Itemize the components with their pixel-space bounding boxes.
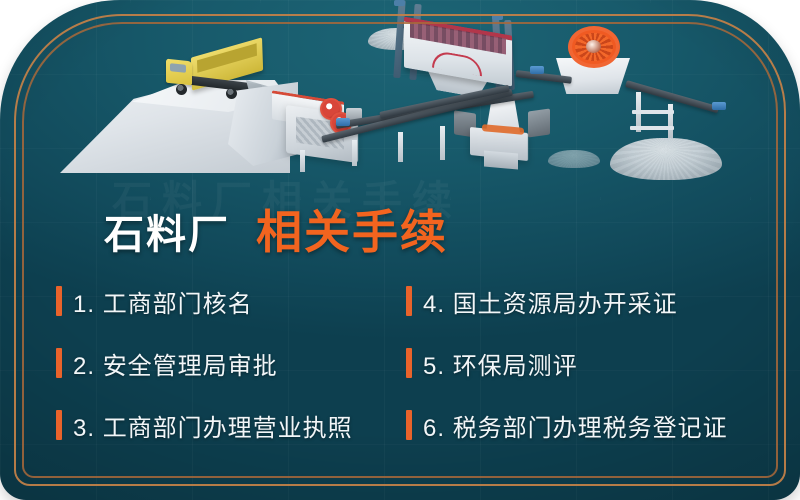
list-item-text: 2. 安全管理局审批	[73, 346, 278, 381]
list-item: 6. 税务部门办理税务登记证	[406, 408, 746, 443]
list-item-text: 4. 国土资源局办开采证	[423, 284, 678, 319]
list-item: 1. 工商部门核名	[56, 284, 406, 319]
title-accent: 相关手续	[256, 196, 448, 262]
list-item-text: 6. 税务部门办理税务登记证	[423, 408, 728, 443]
list-item: 4. 国土资源局办开采证	[406, 284, 746, 319]
bullet-marker-icon	[56, 286, 62, 316]
teal-panel: 石料厂相关手续 石料厂 相关手续 1. 工商部门核名 4. 国土资源局办开采证 …	[0, 0, 800, 500]
list-item-text: 3. 工商部门办理营业执照	[73, 408, 353, 443]
bullet-marker-icon	[56, 348, 62, 378]
list-item-text: 5. 环保局测评	[423, 346, 578, 381]
page-title: 石料厂 相关手续	[104, 196, 448, 262]
poster-root: 石料厂相关手续 石料厂 相关手续 1. 工商部门核名 4. 国土资源局办开采证 …	[0, 0, 800, 500]
list-item: 3. 工商部门办理营业执照	[56, 408, 406, 443]
list-item-text: 1. 工商部门核名	[73, 284, 253, 319]
title-primary: 石料厂	[104, 202, 230, 260]
bullet-marker-icon	[406, 410, 412, 440]
bullet-marker-icon	[406, 286, 412, 316]
list-item: 2. 安全管理局审批	[56, 346, 406, 381]
procedure-list: 1. 工商部门核名 4. 国土资源局办开采证 2. 安全管理局审批 5. 环保局…	[56, 270, 746, 456]
bullet-marker-icon	[406, 348, 412, 378]
list-item: 5. 环保局测评	[406, 346, 746, 381]
bullet-marker-icon	[56, 410, 62, 440]
